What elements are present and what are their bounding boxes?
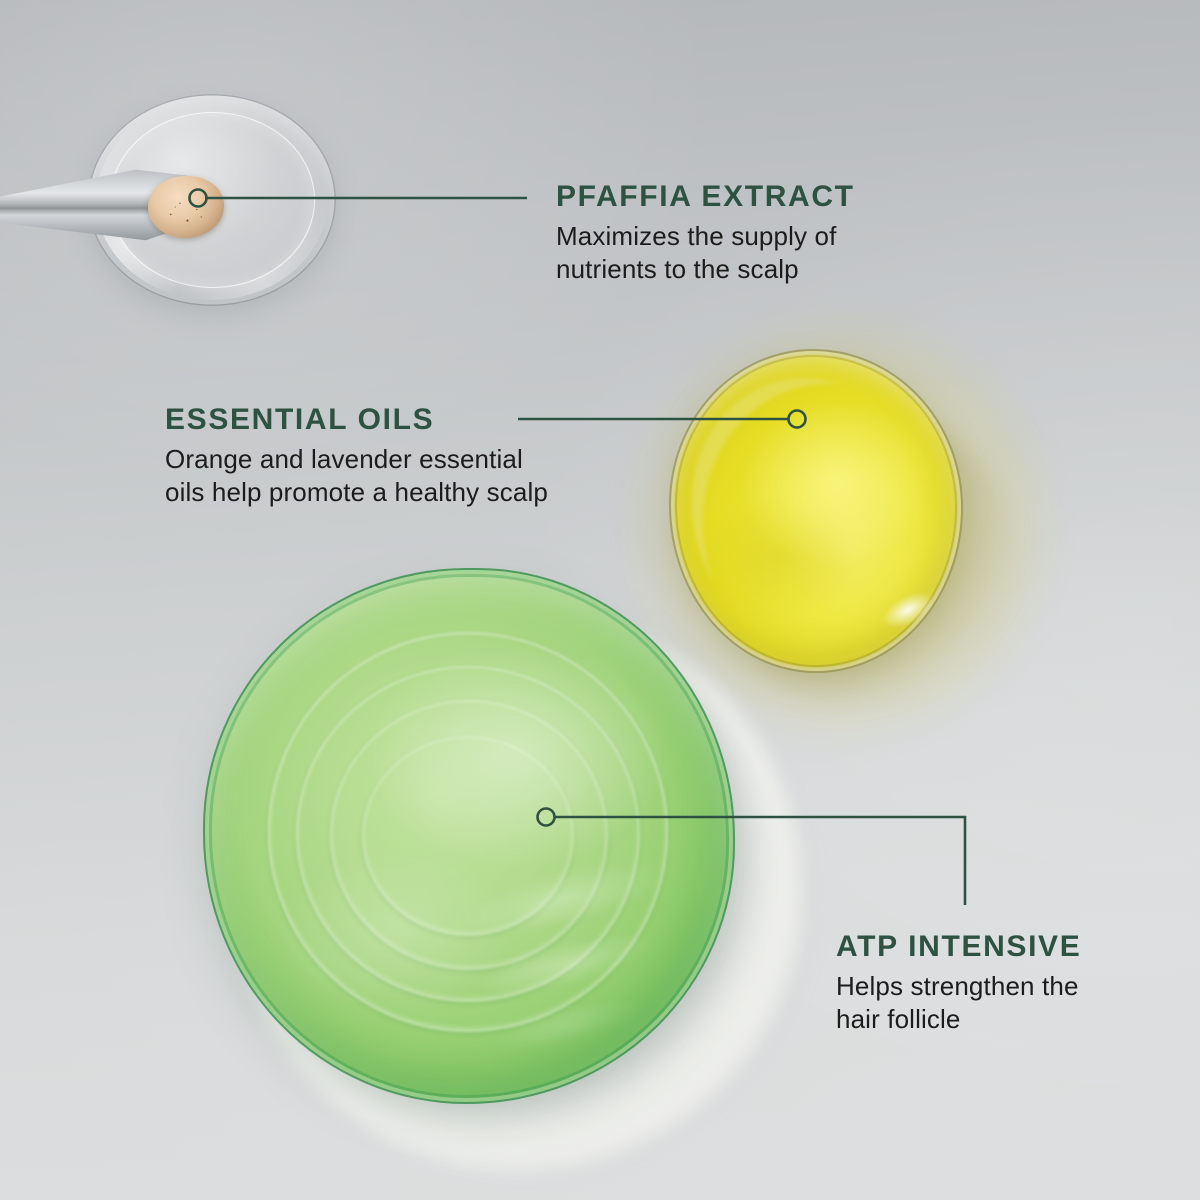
callout-essential-oils-line-2: oils help promote a healthy scalp — [165, 477, 548, 507]
leader-line-atp — [538, 809, 966, 906]
atp-gel-marker-icon — [538, 809, 555, 826]
callout-pfaffia-line-1: Maximizes the supply of — [556, 221, 836, 251]
leader-line-pfaffia — [190, 190, 528, 207]
callout-essential-oils-description: Orange and lavender essential oils help … — [165, 443, 548, 510]
callout-pfaffia-line-2: nutrients to the scalp — [556, 254, 799, 284]
callout-essential-oils-line-1: Orange and lavender essential — [165, 444, 523, 474]
callout-atp-line-2: hair follicle — [836, 1004, 961, 1034]
callout-pfaffia-title: PFAFFIA EXTRACT — [556, 180, 855, 213]
callout-essential-oils-title: ESSENTIAL OILS — [165, 403, 548, 436]
callout-atp: ATP INTENSIVE Helps strengthen the hair … — [836, 930, 1081, 1037]
callout-atp-description: Helps strengthen the hair follicle — [836, 970, 1081, 1037]
leader-line-essential-oils — [518, 411, 806, 428]
callout-essential-oils: ESSENTIAL OILS Orange and lavender essen… — [165, 403, 548, 510]
callout-atp-line-1: Helps strengthen the — [836, 971, 1079, 1001]
essential-oils-marker-icon — [789, 411, 806, 428]
callout-pfaffia-description: Maximizes the supply of nutrients to the… — [556, 220, 855, 287]
infographic-canvas: PFAFFIA EXTRACT Maximizes the supply of … — [0, 0, 1200, 1200]
callout-atp-title: ATP INTENSIVE — [836, 930, 1081, 963]
pfaffia-powder-marker-icon — [190, 190, 207, 207]
callout-pfaffia: PFAFFIA EXTRACT Maximizes the supply of … — [556, 180, 855, 287]
